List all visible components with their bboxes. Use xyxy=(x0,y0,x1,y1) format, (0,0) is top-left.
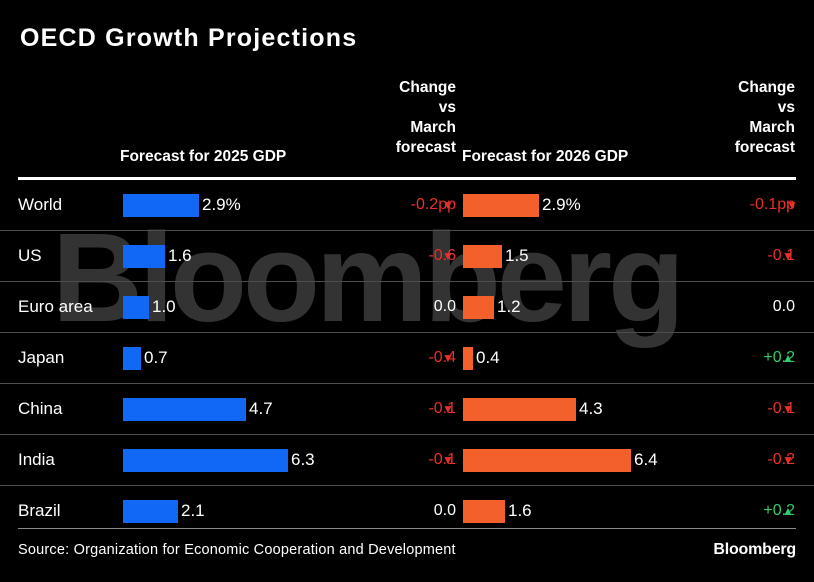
arrow-down-icon: ▼ xyxy=(785,180,799,230)
change-2025-value: 0.0 xyxy=(300,282,456,332)
row-label-china: China xyxy=(18,384,62,434)
change-2026-value: -0.1pp xyxy=(640,180,795,230)
arrow-down-icon: ▼ xyxy=(781,231,795,281)
change-2026-value: 0.0 xyxy=(640,282,795,332)
bar-2026 xyxy=(463,333,473,383)
bar-2026-value: 0.4 xyxy=(473,333,500,383)
bar-2026-fill xyxy=(463,194,539,217)
arrow-down-icon: ▼ xyxy=(441,231,455,281)
page-title: OECD Growth Projections xyxy=(20,24,357,53)
bar-2025 xyxy=(123,231,165,281)
bar-2025 xyxy=(123,333,141,383)
row-label-world: World xyxy=(18,180,62,230)
column-header-change-2026-line-4: forecast xyxy=(660,138,795,158)
column-header-change-2026-line-3: March xyxy=(660,118,795,138)
change-2025-text: 0.0 xyxy=(434,502,456,519)
bar-2025-value: 1.0 xyxy=(149,282,176,332)
bar-2026 xyxy=(463,180,539,230)
bar-2026 xyxy=(463,384,576,434)
arrow-down-icon: ▼ xyxy=(441,333,455,383)
column-header-forecast-2026: Forecast for 2026 GDP xyxy=(462,147,692,167)
data-rows: World2.9%-0.2pp▼2.9%-0.1pp▼US1.6-0.6▼1.5… xyxy=(0,180,814,536)
bar-2026 xyxy=(463,231,502,281)
bar-2025-fill xyxy=(123,449,288,472)
arrow-down-icon: ▼ xyxy=(781,435,795,485)
bar-2025 xyxy=(123,180,199,230)
bar-2026 xyxy=(463,435,631,485)
bar-2026-fill xyxy=(463,296,494,319)
footer-rule xyxy=(18,528,796,529)
change-2026-value: -0.2 xyxy=(640,435,795,485)
bar-2025 xyxy=(123,282,149,332)
column-header-change-2026: Change vs March forecast xyxy=(660,78,795,158)
column-header-change-2026-line-1: Change xyxy=(660,78,795,98)
bar-2026-value: 4.3 xyxy=(576,384,603,434)
column-header-change-2025: Change vs March forecast xyxy=(330,78,456,158)
bar-2025-value: 2.9% xyxy=(199,180,241,230)
column-header-change-2025-line-2: vs xyxy=(330,98,456,118)
bar-2026-fill xyxy=(463,347,473,370)
change-2025-value: -0.1 xyxy=(300,435,456,485)
bar-2026-value: 1.2 xyxy=(494,282,521,332)
bar-2025-fill xyxy=(123,296,149,319)
change-2025-value: -0.6 xyxy=(300,231,456,281)
column-header-change-2026-line-2: vs xyxy=(660,98,795,118)
change-2025-text: 0.0 xyxy=(434,298,456,315)
bar-2026-fill xyxy=(463,449,631,472)
table-row: US1.6-0.6▼1.5-0.1▼ xyxy=(0,231,814,282)
table-row: Japan0.7-0.4▼0.4+0.2▲ xyxy=(0,333,814,384)
arrow-down-icon: ▼ xyxy=(441,384,455,434)
bar-2025 xyxy=(123,435,288,485)
column-header-forecast-2025: Forecast for 2025 GDP xyxy=(120,147,340,167)
source-note: Source: Organization for Economic Cooper… xyxy=(18,542,456,558)
column-header-change-2025-line-4: forecast xyxy=(330,138,456,158)
bar-2025-value: 4.7 xyxy=(246,384,273,434)
bar-2026 xyxy=(463,282,494,332)
arrow-down-icon: ▼ xyxy=(441,435,455,485)
header-rule xyxy=(18,177,796,180)
row-label-euro-area: Euro area xyxy=(18,282,93,332)
change-2026-value: -0.1 xyxy=(640,384,795,434)
change-2026-text: 0.0 xyxy=(773,298,795,315)
bar-2025-fill xyxy=(123,500,178,523)
arrow-up-icon: ▲ xyxy=(781,333,795,383)
change-2026-value: +0.2 xyxy=(640,333,795,383)
footer: Source: Organization for Economic Cooper… xyxy=(0,538,814,568)
table-row: World2.9%-0.2pp▼2.9%-0.1pp▼ xyxy=(0,180,814,231)
bar-2025-fill xyxy=(123,347,141,370)
table-header: Forecast for 2025 GDP Change vs March fo… xyxy=(0,70,814,170)
bar-2025-fill xyxy=(123,398,246,421)
bar-2026-fill xyxy=(463,245,502,268)
change-2025-value: -0.2pp xyxy=(300,180,456,230)
bar-2026-fill xyxy=(463,500,505,523)
table-row: Euro area1.00.01.20.0 xyxy=(0,282,814,333)
arrow-down-icon: ▼ xyxy=(781,384,795,434)
bar-2025-value: 0.7 xyxy=(141,333,168,383)
column-header-change-2025-line-3: March xyxy=(330,118,456,138)
column-header-change-2025-line-1: Change xyxy=(330,78,456,98)
table-row: India6.3-0.1▼6.4-0.2▼ xyxy=(0,435,814,486)
table-row: China4.7-0.1▼4.3-0.1▼ xyxy=(0,384,814,435)
change-2026-value: -0.1 xyxy=(640,231,795,281)
change-2025-value: -0.1 xyxy=(300,384,456,434)
bar-2026-fill xyxy=(463,398,576,421)
bar-2025-value: 1.6 xyxy=(165,231,192,281)
bloomberg-logo: Bloomberg xyxy=(713,541,796,559)
bar-2025-fill xyxy=(123,245,165,268)
row-label-us: US xyxy=(18,231,42,281)
bar-2025 xyxy=(123,384,246,434)
bar-2026-value: 2.9% xyxy=(539,180,581,230)
bar-2026-value: 1.5 xyxy=(502,231,529,281)
row-label-india: India xyxy=(18,435,55,485)
row-label-japan: Japan xyxy=(18,333,64,383)
arrow-down-icon: ▼ xyxy=(441,180,455,230)
chart-root: Bloomberg OECD Growth Projections Foreca… xyxy=(0,0,814,582)
change-2025-value: -0.4 xyxy=(300,333,456,383)
bar-2025-fill xyxy=(123,194,199,217)
